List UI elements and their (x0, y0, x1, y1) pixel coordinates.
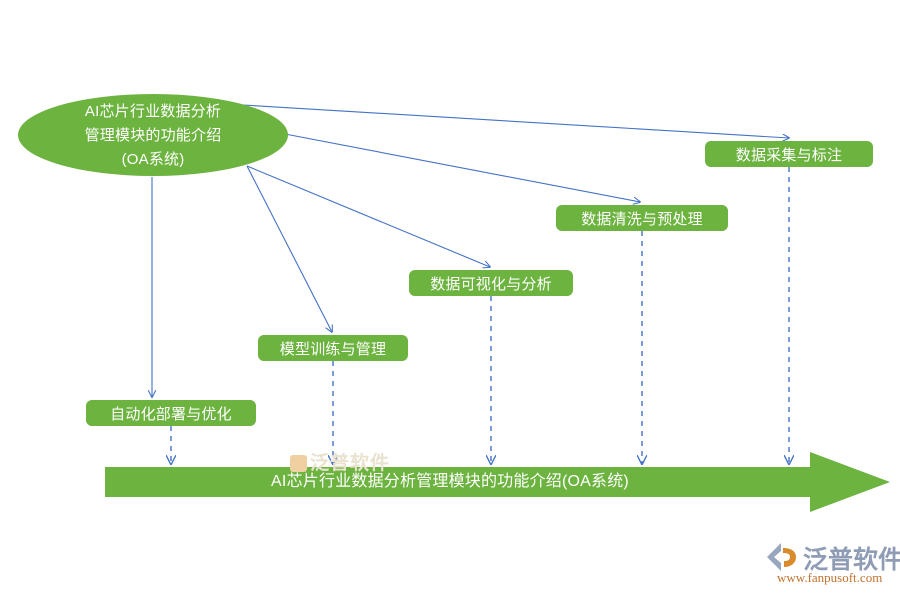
node-data-cleaning[interactable] (556, 205, 728, 231)
connector-to-data-visualization (247, 166, 490, 267)
watermark-mark-icon (290, 455, 307, 472)
node-data-cleaning-shape (556, 205, 728, 231)
fanpu-logo: 泛普软件 www.fanpusoft.com (765, 540, 895, 592)
root-node[interactable] (18, 94, 288, 176)
node-model-training[interactable] (258, 335, 408, 361)
connector-to-data-collection (243, 105, 789, 138)
node-data-collection[interactable] (705, 141, 873, 167)
logo-swoosh-icon (765, 542, 799, 572)
node-model-training-shape (258, 335, 408, 361)
banner-arrow[interactable] (105, 452, 890, 512)
center-watermark: 泛普软件 (290, 448, 390, 475)
connector-to-model-training (247, 166, 332, 332)
node-auto-deployment[interactable] (86, 400, 256, 426)
node-auto-deployment-shape (86, 400, 256, 426)
connector-to-data-cleaning (285, 134, 640, 202)
diagram-canvas (0, 0, 900, 600)
banner-arrow-shape (105, 452, 890, 512)
node-data-collection-shape (705, 141, 873, 167)
logo-url-text: www.fanpusoft.com (777, 570, 882, 586)
center-watermark-text: 泛普软件 (310, 453, 390, 474)
node-data-visualization-shape (409, 270, 573, 296)
node-data-visualization[interactable] (409, 270, 573, 296)
root-node-shape (18, 94, 288, 176)
